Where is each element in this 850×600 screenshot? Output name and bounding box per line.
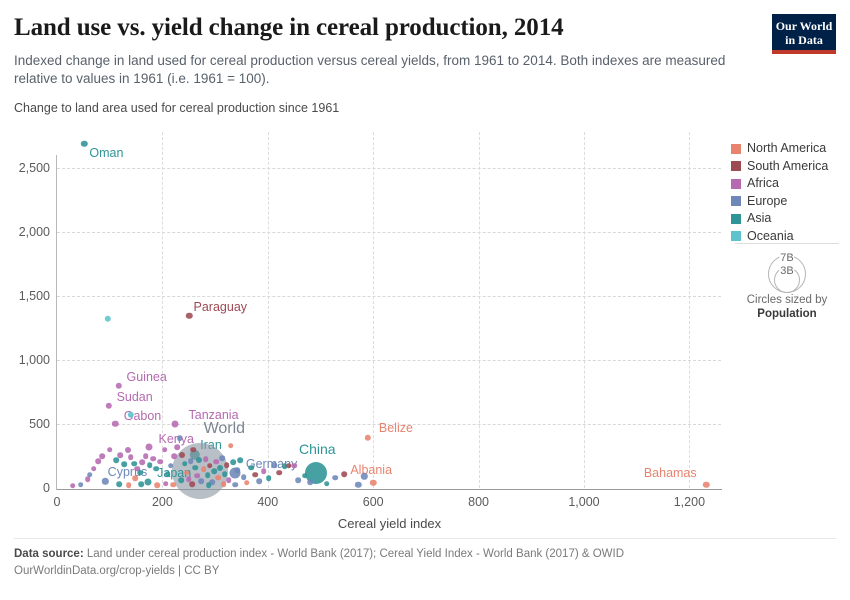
legend-divider (735, 243, 839, 244)
data-point[interactable] (190, 447, 196, 453)
legend-item-africa[interactable]: Africa (731, 177, 843, 190)
data-point[interactable] (220, 455, 226, 461)
data-point[interactable] (222, 471, 228, 477)
data-point[interactable] (261, 469, 267, 475)
y-tick-label: 0 (43, 481, 50, 495)
x-axis-title: Cereal yield index (57, 516, 722, 531)
size-legend-circles: 7B 3B (731, 250, 843, 293)
data-point[interactable] (224, 462, 230, 468)
data-point[interactable] (182, 461, 188, 467)
logo-line-2: in Data (772, 33, 836, 47)
legend-item-label: Africa (747, 177, 779, 190)
gridline-vertical (689, 132, 690, 488)
data-point-japan[interactable] (145, 478, 152, 485)
data-point[interactable] (137, 470, 143, 476)
size-label-3b: 3B (779, 265, 794, 277)
gridline-horizontal (57, 232, 721, 233)
region-legend: North AmericaSouth AmericaAfricaEuropeAs… (731, 142, 843, 247)
data-point[interactable] (277, 470, 283, 476)
legend-swatch-icon (731, 161, 741, 171)
logo-line-1: Our World (772, 19, 836, 33)
data-point-guinea[interactable] (115, 382, 121, 388)
legend-swatch-icon (731, 214, 741, 224)
data-point[interactable] (296, 478, 302, 484)
size-caption-line1: Circles sized by (731, 293, 843, 307)
legend-item-south-america[interactable]: South America (731, 160, 843, 173)
gridline-horizontal (57, 360, 721, 361)
data-point[interactable] (221, 481, 227, 487)
data-point[interactable] (104, 316, 110, 322)
gridline-vertical (162, 132, 163, 488)
data-point[interactable] (128, 454, 134, 460)
data-point[interactable] (168, 463, 174, 469)
point-label-oman: Oman (89, 146, 123, 160)
y-tick-label: 1,000 (19, 353, 50, 367)
data-point[interactable] (199, 478, 205, 484)
point-label-albania: Albania (350, 463, 392, 477)
data-point[interactable] (355, 482, 361, 488)
data-point[interactable] (163, 481, 169, 487)
data-point-cyprus[interactable] (102, 478, 108, 484)
data-point[interactable] (226, 478, 232, 484)
data-point-oman[interactable] (81, 140, 87, 146)
data-point-belize[interactable] (365, 435, 371, 441)
data-point[interactable] (234, 467, 240, 473)
data-point-kenya[interactable] (146, 444, 153, 451)
data-point[interactable] (122, 461, 128, 467)
gridline-vertical (268, 132, 269, 488)
data-point[interactable] (252, 472, 258, 478)
point-label-tanzania: Tanzania (188, 408, 238, 422)
data-point[interactable] (361, 473, 367, 479)
data-point[interactable] (192, 465, 198, 471)
data-point[interactable] (153, 466, 159, 472)
data-point[interactable] (324, 481, 330, 487)
data-point[interactable] (165, 471, 171, 477)
data-point-albania[interactable] (370, 480, 376, 486)
data-point[interactable] (248, 465, 254, 471)
data-point[interactable] (139, 481, 145, 487)
data-point-bahamas[interactable] (703, 482, 709, 488)
legend-swatch-icon (731, 144, 741, 154)
gridline-horizontal (57, 296, 721, 297)
y-tick-label: 2,500 (19, 161, 50, 175)
y-axis-title: Change to land area used for cereal prod… (14, 101, 339, 115)
data-point[interactable] (150, 456, 156, 462)
data-point[interactable] (203, 456, 209, 462)
point-label-guinea: Guinea (127, 370, 167, 384)
data-point[interactable] (257, 478, 263, 484)
x-tick-label: 400 (257, 495, 278, 509)
data-source-line: Data source: Land under cereal productio… (14, 546, 754, 563)
x-tick-label: 200 (152, 495, 173, 509)
chart-page: Land use vs. yield change in cereal prod… (0, 0, 850, 600)
x-tick-label: 600 (363, 495, 384, 509)
data-point[interactable] (211, 469, 217, 475)
data-point[interactable] (238, 458, 244, 464)
data-point[interactable] (78, 482, 84, 488)
x-tick-label: 0 (54, 495, 61, 509)
legend-swatch-icon (731, 179, 741, 189)
data-point[interactable] (116, 481, 122, 487)
scatter-plot-area: OmanParaguayGuineaSudanGabonTanzaniaKeny… (57, 132, 721, 488)
data-point[interactable] (117, 453, 123, 459)
y-tick-label: 2,000 (19, 225, 50, 239)
y-tick-label: 500 (29, 417, 50, 431)
data-point[interactable] (213, 459, 219, 465)
x-axis-line (57, 489, 722, 490)
x-tick-label: 1,200 (674, 495, 705, 509)
data-point[interactable] (189, 482, 195, 488)
data-point-paraguay[interactable] (186, 313, 192, 319)
data-point[interactable] (140, 460, 146, 466)
data-point-tanzania[interactable] (171, 420, 178, 427)
legend-swatch-icon (731, 196, 741, 206)
data-point[interactable] (147, 462, 153, 468)
point-label-china: China (299, 441, 336, 457)
data-point[interactable] (132, 476, 138, 482)
data-point[interactable] (70, 483, 76, 489)
point-label-paraguay: Paraguay (194, 300, 248, 314)
data-point[interactable] (184, 470, 190, 476)
data-point[interactable] (113, 458, 119, 464)
data-point[interactable] (271, 462, 277, 468)
data-point[interactable] (341, 471, 347, 477)
legend-item-europe[interactable]: Europe (731, 195, 843, 208)
data-point[interactable] (302, 473, 308, 479)
data-point[interactable] (244, 480, 250, 486)
legend-item-oceania[interactable]: Oceania (731, 230, 843, 243)
data-point[interactable] (232, 482, 238, 488)
data-point[interactable] (215, 475, 221, 481)
data-point[interactable] (241, 474, 247, 480)
data-point[interactable] (170, 482, 176, 488)
data-point[interactable] (179, 452, 185, 458)
data-point-sudan[interactable] (105, 403, 111, 409)
data-point[interactable] (307, 479, 313, 485)
data-point[interactable] (125, 447, 131, 453)
data-point[interactable] (230, 460, 236, 466)
data-point[interactable] (332, 475, 338, 481)
data-point[interactable] (107, 447, 113, 453)
y-tick-label: 1,500 (19, 289, 50, 303)
data-point[interactable] (174, 444, 180, 450)
data-point[interactable] (201, 467, 207, 473)
data-point[interactable] (291, 463, 297, 469)
data-point[interactable] (100, 453, 106, 459)
data-point[interactable] (154, 482, 160, 488)
gridline-vertical (373, 132, 374, 488)
data-point-gabon[interactable] (112, 421, 118, 427)
legend-item-label: North America (747, 142, 826, 155)
gridline-vertical (584, 132, 585, 488)
legend-item-label: South America (747, 160, 828, 173)
data-point[interactable] (128, 412, 134, 418)
size-caption-line2: Population (731, 307, 843, 321)
point-label-sudan: Sudan (117, 390, 153, 404)
data-source-label: Data source: (14, 548, 84, 560)
legend-swatch-icon (731, 231, 741, 241)
data-point[interactable] (207, 463, 213, 469)
data-point[interactable] (95, 458, 101, 464)
legend-item-label: Asia (747, 212, 771, 225)
license-line[interactable]: OurWorldinData.org/crop-yields | CC BY (14, 563, 754, 580)
size-legend: 7B 3B Circles sized by Population (731, 250, 843, 321)
data-point[interactable] (157, 459, 163, 465)
x-axis-ticks: 02004006008001,0001,200 (57, 495, 722, 515)
legend-item-asia[interactable]: Asia (731, 212, 843, 225)
footer-divider (14, 538, 836, 539)
legend-item-label: Europe (747, 195, 787, 208)
x-tick-label: 1,000 (568, 495, 599, 509)
chart-subtitle: Indexed change in land used for cereal p… (14, 52, 729, 88)
data-point[interactable] (179, 478, 185, 484)
data-point[interactable] (171, 453, 177, 459)
data-point[interactable] (162, 447, 168, 453)
data-point[interactable] (87, 472, 93, 478)
owid-logo[interactable]: Our World in Data (772, 14, 836, 54)
x-tick-label: 800 (468, 495, 489, 509)
legend-item-label: Oceania (747, 230, 794, 243)
y-axis-ticks: 05001,0001,5002,0002,500 (0, 132, 50, 488)
size-label-7b: 7B (779, 252, 794, 264)
legend-item-north-america[interactable]: North America (731, 142, 843, 155)
data-point[interactable] (91, 466, 97, 472)
data-point[interactable] (206, 483, 212, 489)
page-title: Land use vs. yield change in cereal prod… (14, 14, 714, 42)
data-point[interactable] (266, 476, 272, 482)
data-point[interactable] (205, 472, 211, 478)
gridline-horizontal (57, 424, 721, 425)
data-point[interactable] (126, 483, 132, 489)
footer: Data source: Land under cereal productio… (14, 546, 754, 580)
data-point[interactable] (143, 453, 149, 459)
gridline-vertical (479, 132, 480, 488)
data-point[interactable] (217, 465, 223, 471)
data-point[interactable] (188, 458, 194, 464)
data-point[interactable] (177, 435, 183, 441)
gridline-horizontal (57, 168, 721, 169)
data-point[interactable] (196, 457, 202, 463)
data-point[interactable] (228, 443, 234, 449)
data-source-text: Land under cereal production index - Wor… (87, 548, 624, 560)
